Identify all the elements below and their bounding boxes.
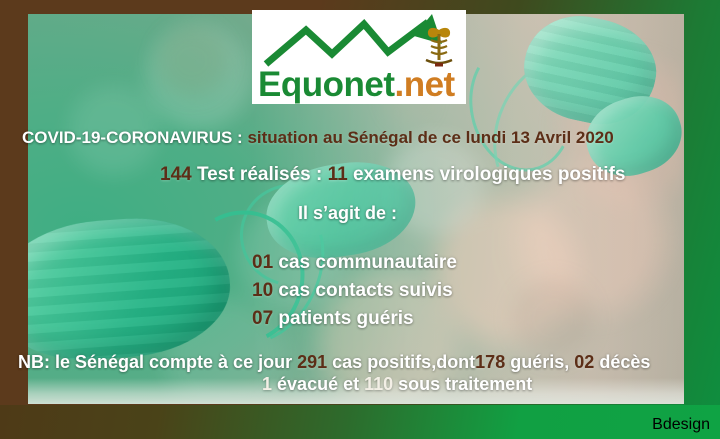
headline-line: COVID-19-CORONAVIRUS : situation au Séné… <box>22 128 614 148</box>
total-positive-label: cas positifs,dont <box>332 352 475 372</box>
recovered-count: 07 <box>252 308 273 329</box>
headline-value: situation au Sénégal de ce lundi <box>247 128 506 147</box>
logo-brand-orange: .net <box>394 65 454 104</box>
total-recovered-label: guéris, <box>510 352 569 372</box>
community-case-label: cas communautaire <box>278 252 456 273</box>
breakdown-heading: Il s’agit de : <box>298 203 397 224</box>
designer-watermark: Bdesign <box>652 416 710 434</box>
note-line: NB: le Sénégal compte à ce jour 291 cas … <box>18 352 650 373</box>
total-positive-count: 291 <box>297 352 327 372</box>
under-treatment-label: sous traitement <box>398 374 532 394</box>
headline-label: COVID-19-CORONAVIRUS : <box>22 128 243 147</box>
total-recovered-count: 178 <box>475 352 505 372</box>
death-count: 02 <box>574 352 594 372</box>
breakdown-item: 07 patients guéris <box>252 308 414 330</box>
positive-count: 11 <box>328 164 348 185</box>
note-prefix: NB: le Sénégal compte à ce jour <box>18 352 292 372</box>
tests-label: Test réalisés : <box>197 164 322 185</box>
positive-label: examens virologiques positifs <box>353 164 625 185</box>
breakdown-item: 10 cas contacts suivis <box>252 280 453 302</box>
tests-count: 144 <box>160 164 192 185</box>
community-case-count: 01 <box>252 252 273 273</box>
evacuated-count: 1 <box>262 374 272 394</box>
headline-date: 13 Avril 2020 <box>511 128 614 147</box>
logo-brand-green: Equonet <box>258 65 394 104</box>
contact-case-label: cas contacts suivis <box>278 280 452 301</box>
tests-line: 144 Test réalisés : 11 examens virologiq… <box>160 164 625 186</box>
evacuated-label: évacué et <box>277 374 359 394</box>
note-line-second: 1 évacué et 110 sous traitement <box>262 374 532 395</box>
breakdown-item: 01 cas communautaire <box>252 252 457 274</box>
caduceus-emblem-icon <box>422 24 456 70</box>
contact-case-count: 10 <box>252 280 273 301</box>
logo-wordmark: Equonet.net <box>258 67 455 102</box>
death-label: décès <box>599 352 650 372</box>
recovered-label: patients guéris <box>278 308 413 329</box>
covid-infographic-poster: Equonet.net COVID-19-CORONAVIRUS : situa… <box>0 0 720 439</box>
under-treatment-count: 110 <box>364 374 393 394</box>
equonet-logo[interactable]: Equonet.net <box>252 10 466 104</box>
